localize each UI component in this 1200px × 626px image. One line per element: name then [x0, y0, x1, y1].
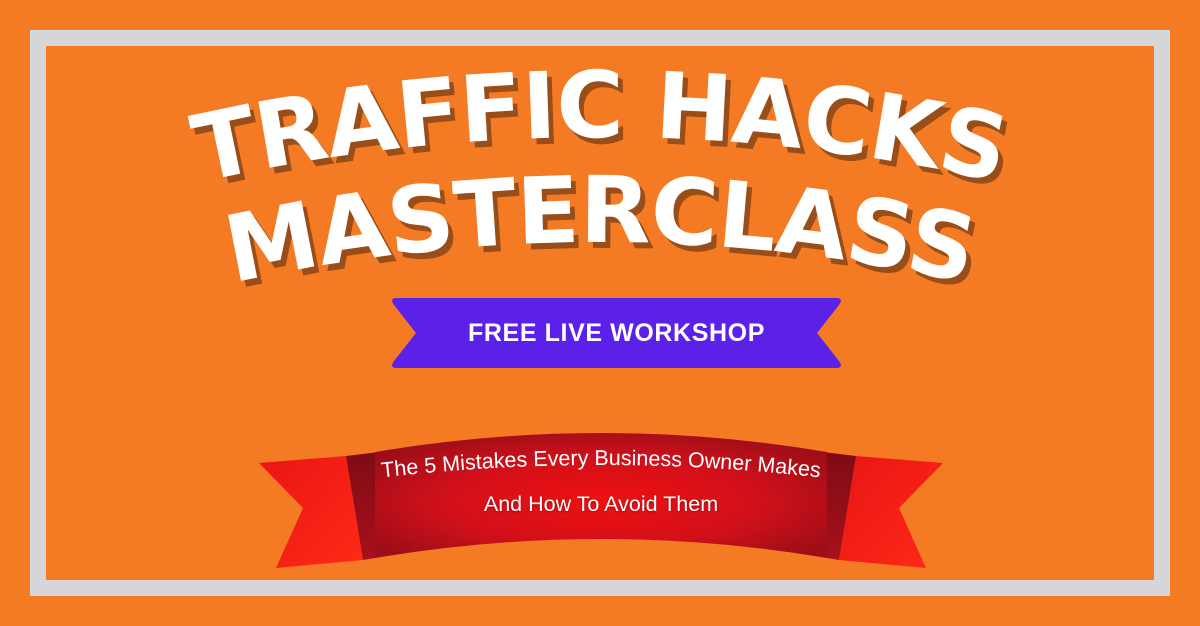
headline-line-2: MASTERCLASS MASTERCLASS	[46, 174, 1154, 294]
subtitle-ribbon: The 5 Mistakes Every Business Owner Make…	[251, 408, 951, 568]
poster-stage: TRAFFIC HACKS TRAFFIC HACKS MASTERCLASS …	[46, 46, 1154, 580]
headline-line-2-text: MASTERCLASS	[216, 157, 984, 305]
free-live-workshop-badge[interactable]: FREE LIVE WORKSHOP	[389, 296, 844, 370]
ribbon-line-2: And How To Avoid Them	[251, 492, 951, 517]
badge-label: FREE LIVE WORKSHOP	[389, 296, 844, 370]
poster: TRAFFIC HACKS TRAFFIC HACKS MASTERCLASS …	[0, 0, 1200, 626]
